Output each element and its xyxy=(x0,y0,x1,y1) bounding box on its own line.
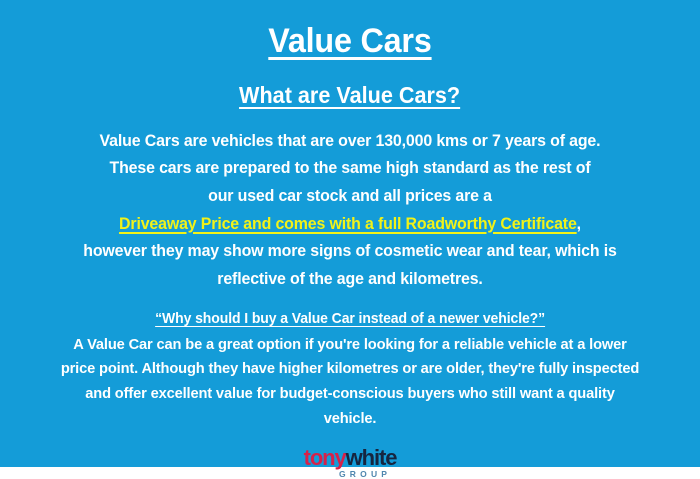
page-title: Value Cars xyxy=(268,22,431,60)
intro-line-5: however they may show more signs of cosm… xyxy=(30,238,671,266)
section-subtitle: What are Value Cars? xyxy=(239,82,460,108)
answer-line-4: vehicle. xyxy=(30,407,671,432)
answer-line-1: A Value Car can be a great option if you… xyxy=(30,333,671,358)
intro-line-2: These cars are prepared to the same high… xyxy=(30,155,671,183)
answer-line-3: and offer excellent value for budget-con… xyxy=(30,382,671,407)
quoted-question: “Why should I buy a Value Car instead of… xyxy=(155,311,545,327)
highlight-line: Driveaway Price and comes with a full Ro… xyxy=(30,211,671,239)
intro-paragraph: Value Cars are vehicles that are over 13… xyxy=(30,128,671,294)
highlight-trailing-punctuation: , xyxy=(577,215,581,233)
answer-line-2: price point. Although they have higher k… xyxy=(30,357,671,382)
logo-wordmark: tonywhite xyxy=(304,447,397,469)
logo-tagline: GROUP xyxy=(309,470,391,479)
value-cars-poster: Value Cars What are Value Cars? Value Ca… xyxy=(0,0,700,467)
answer-paragraph: A Value Car can be a great option if you… xyxy=(30,333,671,432)
intro-line-6: reflective of the age and kilometres. xyxy=(30,266,671,294)
brand-logo: tonywhite GROUP xyxy=(304,447,397,479)
highlighted-phrase: Driveaway Price and comes with a full Ro… xyxy=(119,215,577,233)
intro-line-3: our used car stock and all prices are a xyxy=(30,183,671,211)
intro-line-1: Value Cars are vehicles that are over 13… xyxy=(30,128,671,156)
